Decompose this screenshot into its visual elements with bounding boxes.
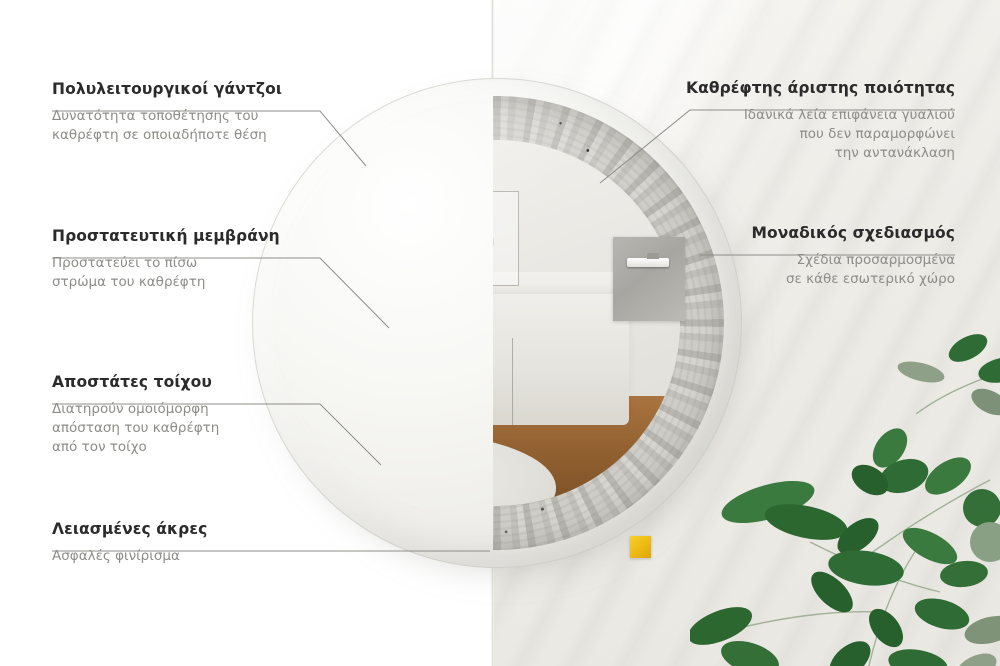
callout-spacers-title: Αποστάτες τοίχου <box>52 373 322 391</box>
callout-spacers-body-line1: Διατηρούν ομοιόμορφη <box>52 400 322 419</box>
callout-membrane-body-line1: Προστατεύει το πίσω <box>52 254 322 273</box>
callout-hooks: Πολυλειτουργικοί γάντζοι Δυνατότητα τοπο… <box>52 80 322 145</box>
callout-unique-design-body-line2: σε κάθε εσωτερικό χώρο <box>645 270 955 289</box>
callout-spacers-body-line3: από τον τοίχο <box>52 438 322 457</box>
callout-quality-mirror-body-line1: Ιδανικά λεία επιφάνεια γυαλιού <box>645 106 955 125</box>
callout-edges-title: Λειασμένες άκρες <box>52 520 322 538</box>
callout-membrane-body: Προστατεύει το πίσω στρώμα του καθρέφτη <box>52 254 322 292</box>
callout-unique-design-body-line1: Σχέδια προσαρμοσμένα <box>645 251 955 270</box>
callout-edges-body-line1: Ασφαλές φινίρισμα <box>52 547 322 566</box>
callout-hooks-body-line2: καθρέφτη σε οποιαδήποτε θέση <box>52 126 322 145</box>
wall-spacer <box>630 536 651 558</box>
callout-membrane: Προστατευτική μεμβράνη Προστατεύει το πί… <box>52 227 322 292</box>
callout-membrane-title: Προστατευτική μεμβράνη <box>52 227 322 245</box>
callout-quality-mirror: Καθρέφτης άριστης ποιότητας Ιδανικά λεία… <box>645 79 955 163</box>
callout-edges-body: Ασφαλές φινίρισμα <box>52 547 322 566</box>
callout-unique-design-body: Σχέδια προσαρμοσμένα σε κάθε εσωτερικό χ… <box>645 251 955 289</box>
callout-spacers: Αποστάτες τοίχου Διατηρούν ομοιόμορφη απ… <box>52 373 322 457</box>
eucalyptus-foliage <box>690 330 1000 666</box>
infographic-canvas: Πολυλειτουργικοί γάντζοι Δυνατότητα τοπο… <box>0 0 1000 666</box>
callout-hooks-body-line1: Δυνατότητα τοποθέτησης του <box>52 107 322 126</box>
callout-hooks-body: Δυνατότητα τοποθέτησης του καθρέφτη σε ο… <box>52 107 322 145</box>
callout-edges: Λειασμένες άκρες Ασφαλές φινίρισμα <box>52 520 322 566</box>
callout-membrane-body-line2: στρώμα του καθρέφτη <box>52 273 322 292</box>
callout-unique-design-title: Μοναδικός σχεδιασμός <box>645 224 955 242</box>
callout-spacers-body-line2: απόσταση του καθρέφτη <box>52 419 322 438</box>
callout-quality-mirror-body: Ιδανικά λεία επιφάνεια γυαλιού που δεν π… <box>645 106 955 163</box>
callout-hooks-title: Πολυλειτουργικοί γάντζοι <box>52 80 322 98</box>
callout-unique-design: Μοναδικός σχεδιασμός Σχέδια προσαρμοσμέν… <box>645 224 955 289</box>
callout-spacers-body: Διατηρούν ομοιόμορφη απόσταση του καθρέφ… <box>52 400 322 457</box>
callout-quality-mirror-body-line2: που δεν παραμορφώνει <box>645 125 955 144</box>
callout-quality-mirror-title: Καθρέφτης άριστης ποιότητας <box>645 79 955 97</box>
callout-quality-mirror-body-line3: την αντανάκλαση <box>645 144 955 163</box>
